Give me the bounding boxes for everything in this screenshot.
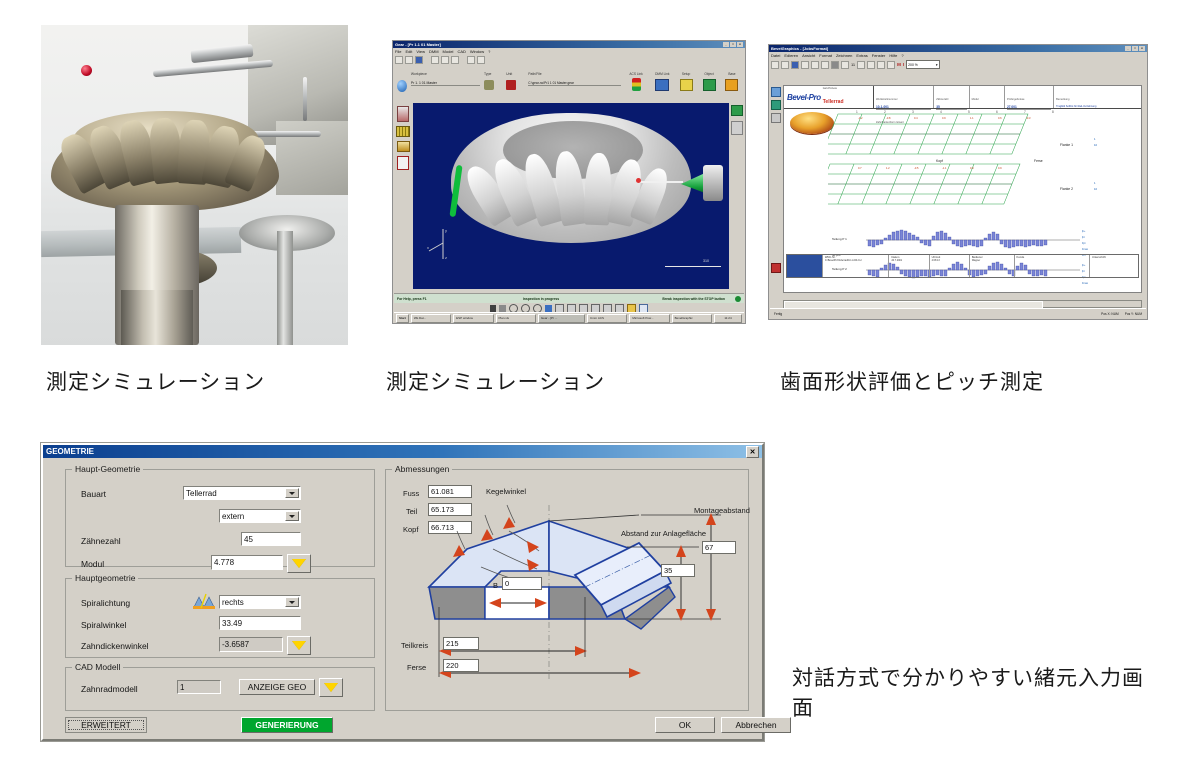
svg-text:1.1: 1.1 <box>970 116 974 120</box>
menu-window[interactable]: Window <box>470 49 484 54</box>
taskbar-item[interactable]: BevelGraphic <box>672 314 712 323</box>
probe-body <box>703 165 723 201</box>
svg-text:0.4: 0.4 <box>914 116 918 120</box>
svg-text:1.2: 1.2 <box>886 166 890 170</box>
group-legend: Abmessungen <box>392 464 452 474</box>
bevel-menubar[interactable]: Datei Edieren Ansicht Format Zeichnen Ex… <box>769 52 1147 59</box>
bevel-status-left: Fertig <box>774 312 782 316</box>
input-teilkreis[interactable]: 215 <box>443 637 479 650</box>
strip-icon-report[interactable] <box>397 156 409 170</box>
status-help: For Help, press F1 <box>397 297 467 301</box>
input-abstand-anlageflaeche-value: 35 <box>664 566 672 575</box>
header-cell: Werkstücknummer 10-1-001 Zahnflankenform… <box>874 86 934 108</box>
menu-questionmark[interactable]: ? <box>901 53 903 58</box>
label-b: B <box>493 581 498 590</box>
new-icon[interactable] <box>395 56 403 64</box>
save-icon[interactable] <box>791 61 799 69</box>
bevel-status-posx: Pos X: NUM <box>1101 312 1119 316</box>
taskbar-clock: 11:24 <box>714 314 742 323</box>
gear-3d-viewport[interactable]: x y z 310 <box>413 103 729 289</box>
object-icon[interactable] <box>703 79 716 91</box>
spin-modul-button[interactable] <box>287 554 311 573</box>
acs-link-label: ACS Link <box>625 72 648 76</box>
gear-status-bar: For Help, press F1 Inspection in progres… <box>394 293 744 303</box>
footer-cell-file: WNC-Nr. C:\BevelPro\Tellerrad\10-1-001.b… <box>823 255 890 277</box>
paste-icon[interactable] <box>821 61 829 69</box>
footer-val-datum: 20.7.2001 <box>891 259 926 262</box>
status-break: Break inspection with the STOP button <box>615 297 725 301</box>
chevron-down-icon[interactable]: ▼ <box>935 63 938 67</box>
status-progress: Inspection in progress <box>477 297 605 301</box>
menu-file[interactable]: File <box>395 49 401 54</box>
combo-bauart[interactable]: Tellerrad <box>183 486 301 500</box>
label-zahnradmodell: Zahnradmodell <box>81 684 138 694</box>
footer-cell-kunde: Kunde <box>1015 255 1090 277</box>
input-modul[interactable]: 4.778 <box>211 555 283 570</box>
gear-3d-model <box>451 113 691 253</box>
view-front-icon[interactable] <box>545 305 552 312</box>
svg-text:-1.1: -1.1 <box>942 166 947 170</box>
save-icon[interactable] <box>415 56 423 64</box>
taskbar-item[interactable]: Cmm ACS <box>587 314 627 323</box>
measure-icon[interactable]: M <box>897 62 901 67</box>
svg-text:-0.8: -0.8 <box>886 116 891 120</box>
strip-icon-pan[interactable] <box>771 87 781 97</box>
print-icon[interactable] <box>831 61 839 69</box>
combo-bauart-value: Tellerrad <box>186 489 217 498</box>
svg-text:0.9: 0.9 <box>998 166 1002 170</box>
copy-icon[interactable] <box>811 61 819 69</box>
svg-text:Flanke 2: Flanke 2 <box>1060 187 1073 191</box>
chevron-down-icon[interactable] <box>285 597 299 607</box>
svg-text:4: 4 <box>940 110 942 114</box>
label-zaehnezahl: Zähnezahl <box>81 536 121 546</box>
print-icon[interactable] <box>467 56 475 64</box>
header-cell: Prüfergebnisse 27.001 <box>1005 86 1054 108</box>
menu-model[interactable]: Model <box>443 49 454 54</box>
strip-icon-run[interactable] <box>731 105 743 116</box>
text-icon[interactable]: I <box>903 62 904 67</box>
input-montageabstand[interactable]: 67 <box>702 541 736 554</box>
ok-button[interactable]: OK <box>655 717 715 733</box>
caption-middle: 測定シミュレーション <box>386 366 605 396</box>
maximize-icon[interactable]: □ <box>730 42 736 47</box>
svg-text:-0.3: -0.3 <box>1026 116 1031 120</box>
svg-text:x: x <box>427 245 429 250</box>
svg-text:1: 1 <box>1094 137 1096 141</box>
gear-app-menubar[interactable]: File Edit View DMM Model CAD Window ? <box>393 48 745 55</box>
geometrie-dialog[interactable]: GEOMETRIE ✕ Haupt-Geometrie Bauart Telle… <box>41 443 764 741</box>
svg-text:3: 3 <box>912 110 914 114</box>
label-montageabstand: Montageabstand <box>694 506 750 515</box>
footer-logo-cell <box>787 255 823 277</box>
svg-text:1: 1 <box>1094 181 1096 185</box>
input-zahndickenwinkel[interactable]: -3.6587 <box>219 637 283 652</box>
input-zahnradmodell[interactable]: 1 <box>177 680 221 694</box>
input-spiralwinkel-value: 33.49 <box>222 619 242 628</box>
bevel-report-header: Bevel-Pro Gart-Prozess Tellerrad Werkstü… <box>784 86 1141 109</box>
svg-text:-1.2: -1.2 <box>858 116 863 120</box>
bevel-horizontal-scrollbar[interactable] <box>783 300 1142 308</box>
gear-app-title: Gear - [Pr 1.1 01 Master] <box>395 42 441 47</box>
input-b-value: 0 <box>505 579 509 588</box>
virtual-probe <box>671 163 723 203</box>
close-icon[interactable]: x <box>1139 46 1145 51</box>
bevel-gear-workpiece <box>51 93 279 218</box>
bevel-status-posy: Pos Y: NUM <box>1125 312 1142 316</box>
chevron-down-icon[interactable] <box>285 511 299 521</box>
footer-file-path: C:\BevelPro\Tellerrad\10-1-001.bvl <box>825 259 887 262</box>
input-ferse-value: 220 <box>446 661 459 670</box>
table-post <box>277 231 293 345</box>
caption-dialog: 対話方式で分かりやすい緒元入力画面 <box>792 663 1152 723</box>
gear-right-toolstrip[interactable] <box>730 103 744 289</box>
menu-dmm[interactable]: DMM <box>429 49 439 54</box>
strip-icon-teeth[interactable] <box>396 126 410 137</box>
header-value: Tragbild Soll/Ist für Rad-Verzahnung <box>1056 105 1139 108</box>
bevel-logo-tag: Gart-Prozess <box>823 87 844 90</box>
unit-label: Unit <box>506 72 524 76</box>
svg-text:10: 10 <box>1094 187 1098 191</box>
topo-label-kopf: Kopf <box>936 159 943 163</box>
stylus-vertical <box>303 77 307 121</box>
erweitert-label: ERWEITERT <box>81 720 131 730</box>
group-legend: Haupt-Geometrie <box>72 464 143 474</box>
combo-spiralichtung[interactable]: rechts <box>219 595 301 609</box>
screen-tool-icon[interactable] <box>499 305 506 312</box>
probe-stylus <box>639 181 683 183</box>
svg-text:fp+: fp+ <box>1082 230 1086 233</box>
label-spiralwinkel: Spiralwinkel <box>81 620 126 630</box>
input-ferse[interactable]: 220 <box>443 659 479 672</box>
label-ferse: Ferse <box>407 663 426 672</box>
probe-ruby-tip <box>636 178 641 183</box>
footer-cell-bediener: Bediener Wagner <box>970 255 1015 277</box>
zoom-value: 200 % <box>908 63 918 67</box>
menu-ansicht[interactable]: Ansicht <box>802 53 815 58</box>
dialog-titlebar: GEOMETRIE ✕ <box>43 445 762 458</box>
strip-icon-probe[interactable] <box>397 106 409 122</box>
svg-text:0.7: 0.7 <box>858 166 862 170</box>
svg-text:0.6: 0.6 <box>998 116 1002 120</box>
header-label: Bemerkung <box>1056 98 1069 101</box>
label-modul: Modul <box>81 559 104 569</box>
bevel-toolbar[interactable]: 11 M I 200 % ▼ <box>769 59 1147 70</box>
globe-icon[interactable] <box>397 80 407 92</box>
menu-format[interactable]: Format <box>819 53 832 58</box>
object-label: Object <box>699 72 719 76</box>
strip-icon-select[interactable] <box>771 100 781 110</box>
dmm-link-label: DMM Link <box>652 72 673 76</box>
probe-cone <box>681 173 705 193</box>
layer-icon[interactable] <box>867 61 875 69</box>
svg-text:z: z <box>445 255 447 260</box>
taskbar-item[interactable]: Microsoft Pow... <box>629 314 669 323</box>
label-teilkreis: Teilkreis <box>401 641 428 650</box>
menu-edit[interactable]: Edit <box>405 49 412 54</box>
svg-text:10: 10 <box>1094 143 1098 147</box>
bevel-logo-cell: Bevel-Pro Gart-Prozess Tellerrad <box>784 86 874 108</box>
scale-label: 310 <box>703 259 709 263</box>
windows-taskbar[interactable]: Start Wk.Dat... ESP window Plan.xls Gear… <box>394 312 744 323</box>
strip-icon-delete[interactable] <box>771 263 781 273</box>
svg-text:2: 2 <box>884 110 886 114</box>
label-bauart: Bauart <box>81 489 106 499</box>
svg-text:Fpt: Fpt <box>1082 242 1086 245</box>
input-modul-value: 4.778 <box>214 558 234 567</box>
menu-view[interactable]: View <box>416 49 425 54</box>
footer-col-kunde: Kunde <box>1017 256 1087 259</box>
close-icon[interactable]: x <box>737 42 743 47</box>
svg-text:8: 8 <box>1052 110 1054 114</box>
svg-text:7: 7 <box>1024 110 1026 114</box>
new-icon[interactable] <box>771 61 779 69</box>
taskbar-item[interactable]: Wk.Dat... <box>411 314 451 323</box>
bevel-app-title: BevelGraphics - [JobsFormat] <box>771 46 828 51</box>
group-legend: CAD Modell <box>72 662 123 672</box>
cut-icon[interactable] <box>801 61 809 69</box>
open-icon[interactable] <box>405 56 413 64</box>
info-icon[interactable] <box>841 61 849 69</box>
zoom-out-icon[interactable] <box>887 61 895 69</box>
svg-text:Fmax: Fmax <box>1082 282 1089 285</box>
copy-icon[interactable] <box>441 56 449 64</box>
label-spiralichtung: Spiralichtung <box>81 598 130 608</box>
svg-text:0.3: 0.3 <box>970 166 974 170</box>
menu-hilfe[interactable]: Hilfe <box>889 53 897 58</box>
minimize-icon[interactable]: _ <box>723 42 729 47</box>
menu-extras[interactable]: Extras <box>856 53 867 58</box>
input-teilkreis-value: 215 <box>446 639 459 648</box>
generierung-button[interactable]: GENERIERUNG <box>241 717 333 733</box>
svg-text:y: y <box>445 228 447 233</box>
menu-edieren[interactable]: Edieren <box>784 53 798 58</box>
open-icon[interactable] <box>781 61 789 69</box>
combo-extern[interactable]: extern <box>219 509 301 523</box>
bevelgraphics-app-screenshot: BevelGraphics - [JobsFormat] _ □ x Datei… <box>768 44 1148 320</box>
header-cell: Zähnezahl 35 <box>934 86 969 108</box>
status-indicator-icon <box>735 296 741 302</box>
spin-zahndickenwinkel-button[interactable] <box>287 636 311 655</box>
footer-cell-uhrzeit: Uhrzeit 4:08:13 <box>930 255 970 277</box>
input-zahnradmodell-value: 1 <box>180 683 184 692</box>
bevel-logo-sub: Tellerrad <box>823 99 844 105</box>
chevron-down-icon[interactable] <box>285 488 299 498</box>
strip-icon-axis[interactable] <box>731 121 743 135</box>
maximize-icon[interactable]: □ <box>1132 46 1138 51</box>
gear-left-toolstrip[interactable] <box>394 103 412 289</box>
start-button[interactable]: Start <box>396 314 409 323</box>
combo-extern-value: extern <box>222 512 244 521</box>
input-abstand-anlageflaeche[interactable]: 35 <box>661 564 695 577</box>
label-abstand-anlageflaeche: Abstand zur Anlagefläche <box>621 529 706 538</box>
bevel-titlebar: BevelGraphics - [JobsFormat] _ □ x <box>769 45 1147 52</box>
strip-icon-table[interactable] <box>771 113 781 123</box>
header-cell: Bemerkung Tragbild Soll/Ist für Rad-Verz… <box>1054 86 1141 108</box>
help-icon[interactable] <box>477 56 485 64</box>
svg-text:fpt: fpt <box>1082 236 1085 239</box>
input-montageabstand-value: 67 <box>705 543 713 552</box>
cmm-gear-photo <box>41 25 348 345</box>
gear-app-toolbar[interactable] <box>393 55 745 65</box>
footer-col-unterschrift: Unterschrift <box>1092 256 1136 259</box>
svg-text:-0.5: -0.5 <box>914 166 919 170</box>
input-zahndickenwinkel-value: -3.6587 <box>222 640 249 649</box>
zoom-combo[interactable]: 200 % ▼ <box>906 60 940 69</box>
header-label: Modul <box>972 98 979 101</box>
input-b[interactable]: 0 <box>502 577 542 590</box>
strip-icon-measure[interactable] <box>397 141 410 152</box>
bevel-window-controls[interactable]: _ □ x <box>1125 46 1145 51</box>
pathfile-value[interactable]: C:\gear-nc\Pr1 1 01 Master.gear <box>528 76 620 86</box>
footer-cell-datum: Datum 20.7.2001 <box>889 255 929 277</box>
probe-tool-icon[interactable] <box>490 305 496 312</box>
bevel-left-toolstrip[interactable] <box>770 84 782 293</box>
pitch-label-1: Teilung P 1 <box>832 237 847 241</box>
svg-text:0.9: 0.9 <box>942 116 946 120</box>
gear-inspection-app-screenshot: Gear - [Pr 1.1 01 Master] _ □ x File Edi… <box>392 40 746 324</box>
header-label: Prüfergebnisse <box>1007 98 1024 101</box>
traffic-light-icon[interactable] <box>632 78 641 91</box>
bevel-footer-table: WNC-Nr. C:\BevelPro\Tellerrad\10-1-001.b… <box>786 254 1139 278</box>
svg-text:5: 5 <box>968 110 970 114</box>
dialog-title: GEOMETRIE <box>46 447 94 456</box>
group-legend: Hauptgeometrie <box>72 573 138 583</box>
dmm-link-icon[interactable] <box>655 79 669 91</box>
input-spiralwinkel[interactable]: 33.49 <box>219 616 301 630</box>
grid-icon[interactable] <box>857 61 865 69</box>
bevel-pro-logo: Bevel-Pro <box>787 93 821 102</box>
unit-icon[interactable] <box>506 80 516 90</box>
setup-label: Setup <box>677 72 695 76</box>
menu-cad[interactable]: CAD <box>457 49 465 54</box>
svg-text:1: 1 <box>856 110 858 114</box>
zoom-in-icon[interactable] <box>877 61 885 69</box>
close-icon[interactable]: ✕ <box>746 446 759 458</box>
poster-page: Gear - [Pr 1.1 01 Master] _ □ x File Edi… <box>0 0 1197 761</box>
label-zahndickenwinkel: Zahndickenwinkel <box>81 641 149 651</box>
page-count-label: 11 <box>851 62 855 67</box>
input-zaehnezahl[interactable]: 45 <box>241 532 301 546</box>
caption-left: 測定シミュレーション <box>46 366 265 396</box>
header-label: Zähnezahl <box>936 98 948 101</box>
svg-text:6: 6 <box>996 110 998 114</box>
cut-icon[interactable] <box>431 56 439 64</box>
anzeige-geo-button[interactable]: ANZEIGE GEO <box>239 679 315 695</box>
footer-val-bediener: Wagner <box>972 259 1012 262</box>
bevel-status-bar: Fertig Pos X: NUM Pos Y: NUM <box>770 308 1146 318</box>
gear-app-titlebar: Gear - [Pr 1.1 01 Master] _ □ x <box>393 41 745 48</box>
menu-datei[interactable]: Datei <box>771 53 780 58</box>
caption-right: 歯面形状評価とピッチ測定 <box>780 366 1044 396</box>
base-icon[interactable] <box>725 79 738 91</box>
scale-bar <box>665 266 721 267</box>
type-icon[interactable] <box>484 80 494 90</box>
spin-anzeige-geo-button[interactable] <box>319 678 343 697</box>
input-zaehnezahl-value: 45 <box>244 535 253 544</box>
taskbar-item[interactable]: Plan.xls <box>496 314 536 323</box>
minimize-icon[interactable]: _ <box>1125 46 1131 51</box>
bevel-document-page[interactable]: Bevel-Pro Gart-Prozess Tellerrad Werkstü… <box>783 85 1142 293</box>
type-label: Type <box>484 72 502 76</box>
menu-help[interactable]: ? <box>488 49 490 54</box>
setup-icon[interactable] <box>680 79 693 91</box>
workpiece-value[interactable]: Pr 1. 1 01 Master <box>411 76 480 86</box>
gear-workpiece-bar: Workpiece Pr 1. 1 01 Master Type Unit Pa… <box>394 70 744 104</box>
menu-fenster[interactable]: Fenster <box>872 53 886 58</box>
abbrechen-button[interactable]: Abbrechen <box>721 717 791 733</box>
header-cell: Modul <box>970 86 1005 108</box>
erweitert-button[interactable]: ERWEITERT <box>65 717 147 733</box>
taskbar-item[interactable]: ESP window <box>453 314 493 323</box>
combo-spiralichtung-value: rechts <box>222 598 244 607</box>
ruby-ball-upper <box>81 65 92 76</box>
menu-zeichnen[interactable]: Zeichnen <box>836 53 852 58</box>
svg-text:Fmax: Fmax <box>1082 248 1089 251</box>
svg-text:Flanke 1: Flanke 1 <box>1060 143 1073 147</box>
footer-cell-unterschrift: Unterschrift <box>1090 255 1138 277</box>
topo-label-ferse: Ferse <box>1034 159 1043 163</box>
paste-icon[interactable] <box>451 56 459 64</box>
footer-val-uhrzeit: 4:08:13 <box>932 259 967 262</box>
base-label: Base <box>723 72 741 76</box>
spiral-direction-icon <box>193 593 215 609</box>
gear-shaft-lower <box>121 290 193 345</box>
tooth-flank-topography-chart: 123 456 78 -1.2-0.80.4 0.91.10.6 -0.3 0.… <box>828 110 1108 228</box>
header-label: Werkstücknummer <box>876 98 898 101</box>
taskbar-item-active[interactable]: Gear - [Pr ... <box>538 314 585 323</box>
coordinate-axis-icon: x y z <box>427 227 467 261</box>
gear-window-controls[interactable]: _ □ x <box>723 42 743 47</box>
